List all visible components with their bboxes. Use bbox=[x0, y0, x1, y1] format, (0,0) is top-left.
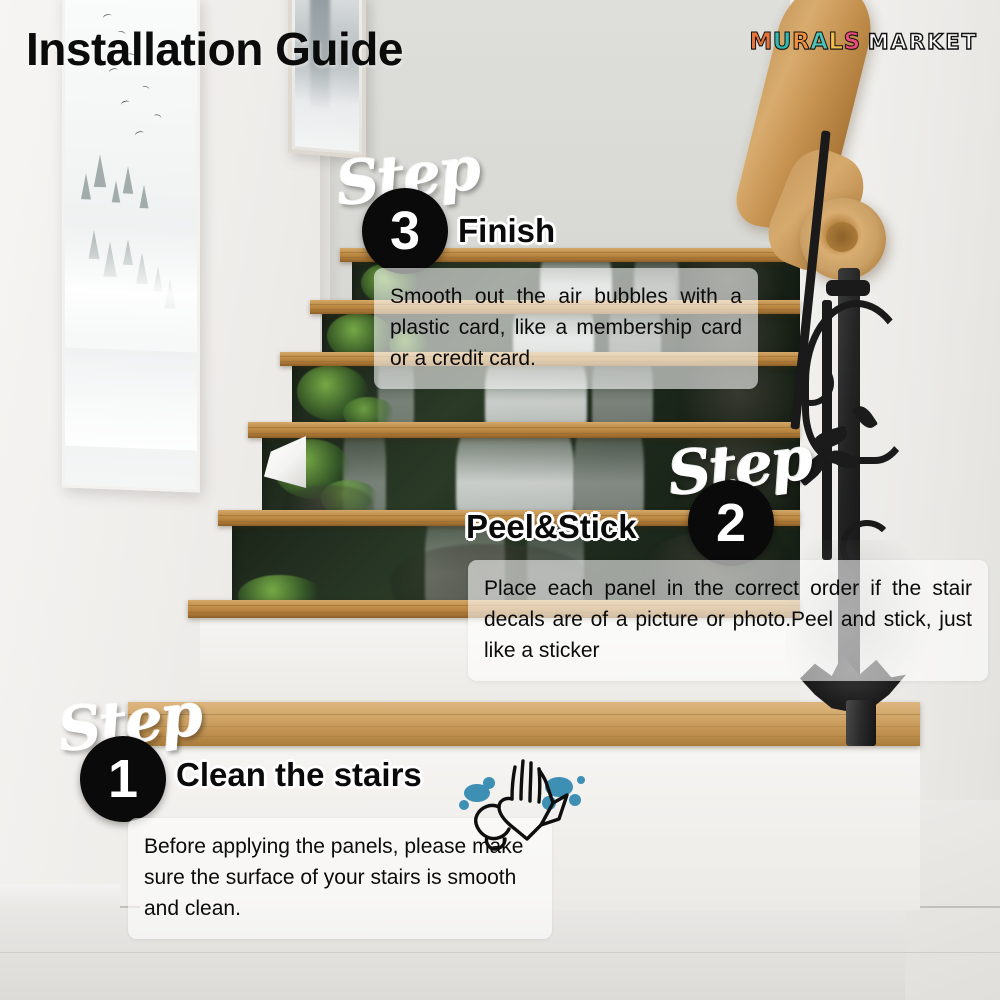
logo-letter-s: S bbox=[844, 31, 861, 54]
logo-letter-l: L bbox=[829, 31, 844, 54]
handrail-volute-center bbox=[826, 222, 858, 252]
step-2-number: 2 bbox=[716, 496, 746, 550]
step-3-body: Smooth out the air bubbles with a plasti… bbox=[374, 268, 758, 389]
newel-post-base bbox=[846, 700, 876, 746]
step-1-badge: 1 bbox=[80, 736, 166, 822]
step-2-heading: Peel&Stick bbox=[466, 508, 637, 546]
logo-letter-r: R bbox=[792, 31, 810, 54]
logo-letter-a: A bbox=[810, 31, 828, 54]
step-1-number: 1 bbox=[108, 752, 138, 806]
page-title: Installation Guide bbox=[26, 22, 403, 76]
logo-market-word: MARKET bbox=[868, 30, 978, 54]
iron-scroll bbox=[788, 360, 834, 406]
step-1-heading: Clean the stairs bbox=[176, 756, 422, 794]
step-2-body: Place each panel in the correct order if… bbox=[468, 560, 988, 681]
step-3-number: 3 bbox=[390, 204, 420, 258]
step-3-badge: 3 bbox=[362, 188, 448, 274]
step-3-heading: Finish bbox=[458, 212, 555, 250]
installation-guide-poster: Installation Guide M U R A L S MARKET St… bbox=[0, 0, 1000, 1000]
hand-with-cloth-icon bbox=[476, 761, 567, 849]
murals-market-logo[interactable]: M U R A L S MARKET bbox=[749, 30, 978, 54]
cleaning-hand-icon bbox=[455, 745, 595, 855]
newel-top-collar bbox=[826, 280, 870, 296]
step-2-badge: 2 bbox=[688, 480, 774, 566]
logo-letter-u: U bbox=[773, 31, 792, 54]
logo-murals-word: M U R A L S bbox=[749, 31, 860, 54]
logo-letter-m: M bbox=[749, 31, 772, 54]
